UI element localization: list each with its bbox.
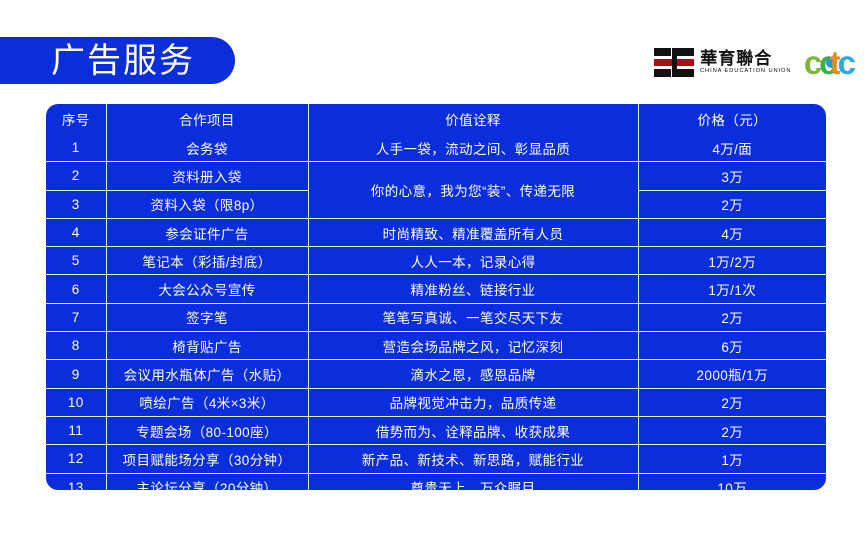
table-row[interactable]: 4参会证件广告时尚精致、精准覆盖所有人员4万 (46, 218, 826, 246)
cell-price: 10万 (638, 473, 826, 490)
china-education-union-wordmark: 華育聯合 CHINA EDUCATION UNION (700, 50, 790, 75)
cell-no: 4 (46, 218, 106, 246)
cell-item: 主论坛分享（20分钟） (106, 473, 308, 490)
column-header-no: 序号 (46, 104, 106, 134)
cell-item: 资料入袋（限8p） (106, 190, 308, 218)
china-education-union-mark-icon (654, 48, 694, 77)
table-row[interactable]: 8椅背贴广告营造会场品牌之风，记忆深刻6万 (46, 332, 826, 360)
logo-name-en: CHINA EDUCATION UNION (700, 68, 791, 75)
logo-area: 華育聯合 CHINA EDUCATION UNION c c t c (654, 42, 853, 82)
table-row[interactable]: 7签字笔笔笔写真诚、一笔交尽天下友2万 (46, 303, 826, 331)
advertising-services-table: 序号 合作项目 价值诠释 价格（元） 1会务袋人手一袋，流动之间、彰显品质4万/… (46, 104, 826, 490)
cell-item: 专题会场（80-100座） (106, 416, 308, 444)
cell-no: 3 (46, 190, 106, 218)
cell-no: 10 (46, 388, 106, 416)
table-header-row: 序号 合作项目 价值诠释 价格（元） (46, 104, 826, 134)
cell-no: 1 (46, 134, 106, 162)
column-header-value: 价值诠释 (308, 104, 638, 134)
table-row[interactable]: 1会务袋人手一袋，流动之间、彰显品质4万/面 (46, 134, 826, 162)
cell-price: 2万 (638, 388, 826, 416)
cell-price: 3万 (638, 162, 826, 190)
table-row[interactable]: 6大会公众号宣传精准粉丝、链接行业1万/1次 (46, 275, 826, 303)
cell-value: 品牌视觉冲击力，品质传递 (308, 388, 638, 416)
cell-price: 6万 (638, 332, 826, 360)
table-row[interactable]: 5笔记本（彩插/封底）人人一本，记录心得1万/2万 (46, 247, 826, 275)
cell-item: 大会公众号宣传 (106, 275, 308, 303)
cell-item: 喷绘广告（4米×3米） (106, 388, 308, 416)
table-header: 序号 合作项目 价值诠释 价格（元） (46, 104, 826, 134)
price-table: 序号 合作项目 价值诠释 价格（元） 1会务袋人手一袋，流动之间、彰显品质4万/… (46, 104, 826, 490)
cell-no: 12 (46, 445, 106, 473)
cell-value: 滴水之恩，感恩品牌 (308, 360, 638, 388)
cell-item: 签字笔 (106, 303, 308, 331)
cell-price: 2万 (638, 190, 826, 218)
cell-value: 笔笔写真诚、一笔交尽天下友 (308, 303, 638, 331)
cell-price: 2万 (638, 303, 826, 331)
column-header-price: 价格（元） (638, 104, 826, 134)
cctc-letter-c1: c (804, 46, 819, 79)
cell-value: 人人一本，记录心得 (308, 247, 638, 275)
cell-value: 时尚精致、精准覆盖所有人员 (308, 218, 638, 246)
table-row[interactable]: 10喷绘广告（4米×3米）品牌视觉冲击力，品质传递2万 (46, 388, 826, 416)
cell-value: 人手一袋，流动之间、彰显品质 (308, 134, 638, 162)
cell-item: 会务袋 (106, 134, 308, 162)
cell-price: 4万/面 (638, 134, 826, 162)
cell-item: 椅背贴广告 (106, 332, 308, 360)
cctc-letter-c3: c (838, 46, 853, 79)
column-header-item: 合作项目 (106, 104, 308, 134)
table-row[interactable]: 9会议用水瓶体广告（水贴）滴水之恩，感恩品牌2000瓶/1万 (46, 360, 826, 388)
cell-value: 营造会场品牌之风，记忆深刻 (308, 332, 638, 360)
table-body: 1会务袋人手一袋，流动之间、彰显品质4万/面2资料册入袋你的心意，我为您“装”、… (46, 134, 826, 490)
cell-price: 4万 (638, 218, 826, 246)
table-row[interactable]: 2资料册入袋你的心意，我为您“装”、传递无限3万 (46, 162, 826, 190)
cell-value: 你的心意，我为您“装”、传递无限 (308, 162, 638, 219)
cell-no: 2 (46, 162, 106, 190)
logo-name-cn: 華育聯合 (700, 50, 790, 68)
cell-price: 1万/2万 (638, 247, 826, 275)
cell-value: 借势而为、诠释品牌、收获成果 (308, 416, 638, 444)
page-title-banner: 广告服务 (0, 37, 235, 84)
cell-no: 13 (46, 473, 106, 490)
cctc-logo: c c t c (804, 46, 853, 79)
cell-no: 5 (46, 247, 106, 275)
cctc-letter-t: t (830, 46, 838, 79)
cell-value: 新产品、新技术、新思路，赋能行业 (308, 445, 638, 473)
cell-no: 8 (46, 332, 106, 360)
cell-item: 会议用水瓶体广告（水贴） (106, 360, 308, 388)
table-row[interactable]: 11专题会场（80-100座）借势而为、诠释品牌、收获成果2万 (46, 416, 826, 444)
cell-price: 1万 (638, 445, 826, 473)
cell-item: 资料册入袋 (106, 162, 308, 190)
cell-price: 1万/1次 (638, 275, 826, 303)
cell-item: 参会证件广告 (106, 218, 308, 246)
cell-value: 尊贵无上、万众瞩目 (308, 473, 638, 490)
cell-value: 精准粉丝、链接行业 (308, 275, 638, 303)
cell-no: 6 (46, 275, 106, 303)
cell-no: 9 (46, 360, 106, 388)
cell-item: 笔记本（彩插/封底） (106, 247, 308, 275)
page-title: 广告服务 (51, 44, 195, 78)
cell-price: 2000瓶/1万 (638, 360, 826, 388)
table-row[interactable]: 13主论坛分享（20分钟）尊贵无上、万众瞩目10万 (46, 473, 826, 490)
cell-price: 2万 (638, 416, 826, 444)
cell-no: 7 (46, 303, 106, 331)
china-education-union-logo: 華育聯合 CHINA EDUCATION UNION (654, 48, 790, 77)
cell-item: 项目赋能场分享（30分钟） (106, 445, 308, 473)
cell-no: 11 (46, 416, 106, 444)
table-row[interactable]: 12项目赋能场分享（30分钟）新产品、新技术、新思路，赋能行业1万 (46, 445, 826, 473)
